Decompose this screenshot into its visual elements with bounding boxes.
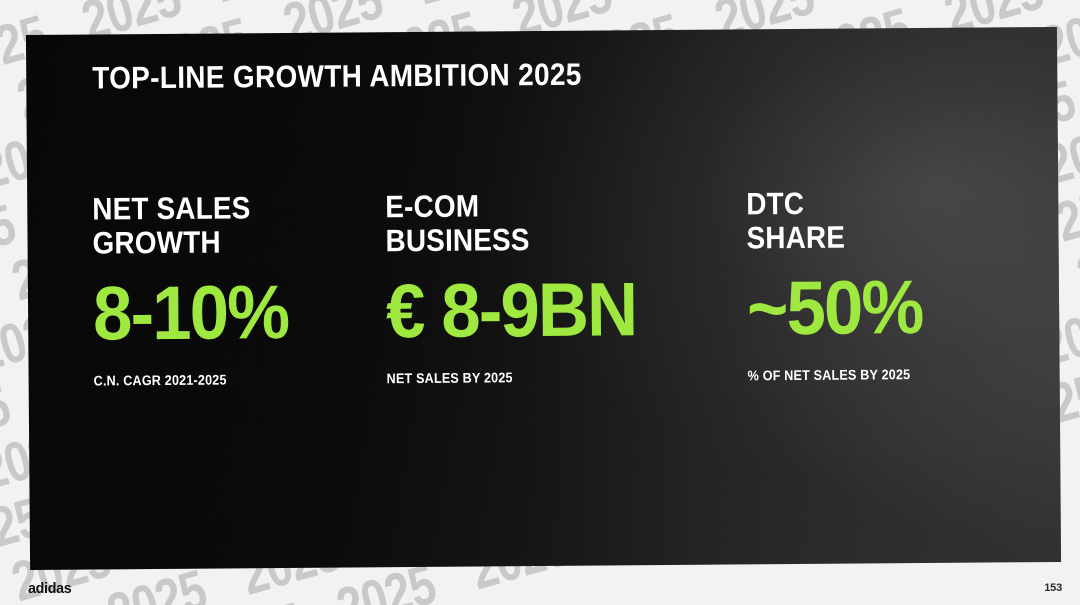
page-number: 153	[1044, 582, 1062, 594]
watermark-word: 2025	[7, 0, 117, 8]
metric-value: 8-10%	[93, 275, 373, 353]
panel-content: TOP-LINE GROWTH AMBITION 2025 NET SALES …	[26, 27, 1061, 570]
watermark-word: 2025	[0, 197, 20, 276]
content-panel: TOP-LINE GROWTH AMBITION 2025 NET SALES …	[26, 27, 1061, 570]
metric-label: E-COM BUSINESS	[385, 188, 710, 259]
adidas-logo: adidas	[28, 580, 71, 597]
watermark-word: 2025	[209, 0, 319, 10]
metric-note: % OF NET SALES BY 2025	[748, 365, 1045, 383]
metric-label: DTC SHARE	[746, 185, 1044, 256]
slide-root: 2025202520252025202520252025202520252025…	[0, 0, 1080, 605]
watermark-word: 2025	[843, 0, 953, 8]
metric-card-dtc-share: DTC SHARE ~50% % OF NET SALES BY 2025	[746, 185, 1061, 384]
metric-note: C.N. CAGR 2021-2025	[94, 371, 364, 389]
metric-label: NET SALES GROWTH	[92, 190, 363, 260]
watermark-word: 2025	[0, 378, 15, 457]
watermark-word: 2025	[0, 601, 79, 605]
watermark-word: 2025	[1072, 0, 1080, 3]
metric-value: € 8-9BN	[386, 272, 721, 351]
metric-note: NET SALES BY 2025	[387, 368, 711, 387]
watermark-word: 2025	[411, 0, 521, 12]
metric-value: ~50%	[747, 269, 1054, 347]
metric-card-net-sales-growth: NET SALES GROWTH 8-10% C.N. CAGR 2021-20…	[92, 190, 394, 389]
metric-card-ecom-business: E-COM BUSINESS € 8-9BN NET SALES BY 2025	[385, 187, 747, 386]
watermark-word: 2025	[1071, 224, 1080, 303]
metrics-row: NET SALES GROWTH 8-10% C.N. CAGR 2021-20…	[27, 185, 1060, 463]
page-title: TOP-LINE GROWTH AMBITION 2025	[92, 57, 582, 97]
watermark-word: 2025	[641, 0, 751, 6]
watermark-word: 2025	[198, 595, 308, 605]
